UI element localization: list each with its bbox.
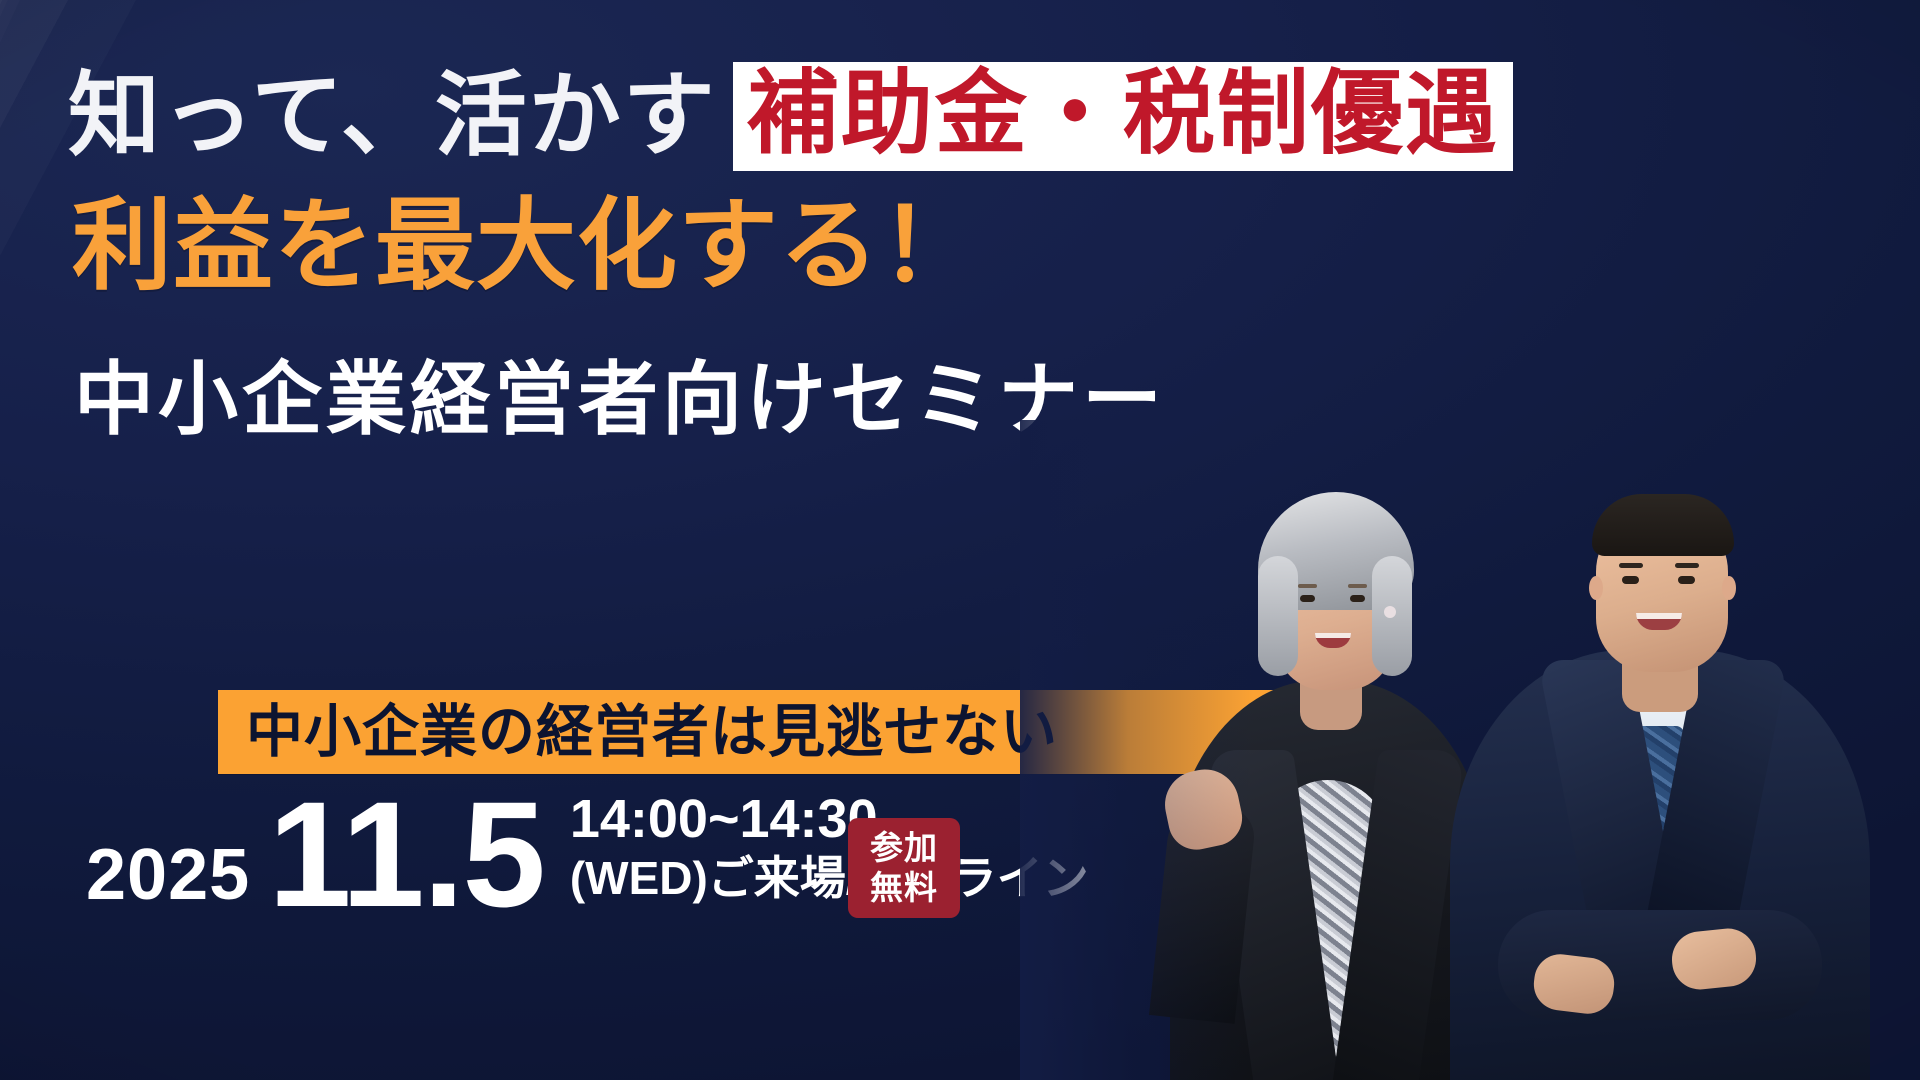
headline-line-3: 中小企業経営者向けセミナー [74,360,1166,440]
event-day-and-format: (WED)ご来場/オンライン [570,852,1089,905]
seminar-promo-banner: 知って、活かす 補助金・税制優遇 利益を最大化する！ 中小企業経営者向けセミナー… [0,0,1920,1080]
headline-line-1: 知って、活かす 補助金・税制優遇 [68,62,1513,171]
presenter-photo-woman [1160,460,1500,1080]
headline-line-1-plain: 知って、活かす [68,70,717,162]
event-time-column: 14:00~14:30 (WED)ご来場/オンライン [570,791,1089,919]
badge-line-2: 無料 [870,868,938,908]
event-date: 11.5 [268,790,544,919]
event-year: 2025 [86,839,250,919]
headline-line-1-highlight: 補助金・税制優遇 [733,62,1513,171]
ribbon-text: 中小企業の経営者は見逃せない [218,704,1058,761]
badge-line-1: 参加 [870,828,938,868]
presenter-photo-man [1450,420,1870,1080]
free-participation-badge: 参加 無料 [848,818,960,918]
event-time: 14:00~14:30 [570,791,1089,848]
presenter-photo-group [1020,420,1920,1080]
headline-line-2: 利益を最大化する！ [72,196,981,296]
